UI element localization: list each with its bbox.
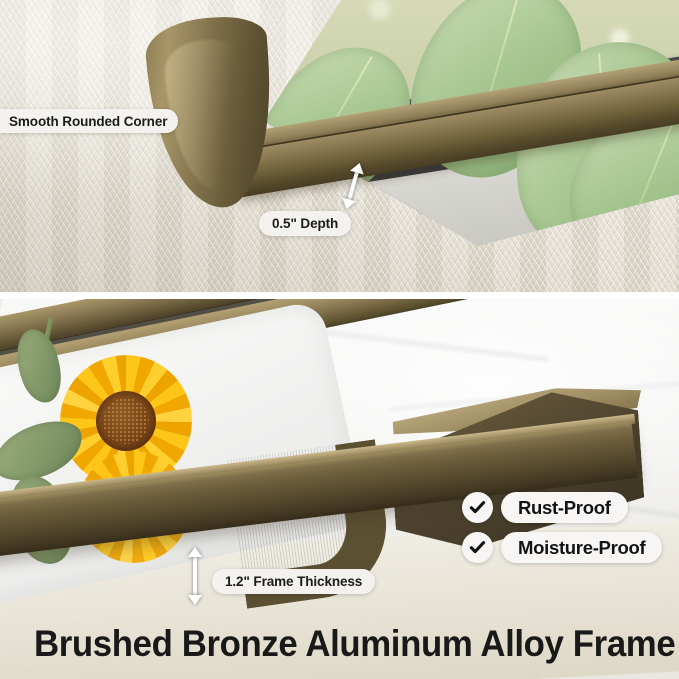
feature-text: Moisture-Proof: [518, 537, 645, 559]
feature-label: Moisture-Proof: [501, 532, 662, 563]
check-icon: [462, 492, 493, 523]
panel-divider: [0, 292, 679, 299]
feature-label: Rust-Proof: [501, 492, 628, 523]
thickness-dimension-arrow-icon: [193, 556, 197, 596]
feature-badge-rust-proof: Rust-Proof: [462, 492, 662, 523]
callout-label: 1.2" Frame Thickness: [225, 574, 362, 589]
check-icon: [462, 532, 493, 563]
callout-smooth-rounded-corner: Smooth Rounded Corner: [0, 109, 178, 133]
callout-label: Smooth Rounded Corner: [9, 114, 167, 129]
feature-text: Rust-Proof: [518, 497, 611, 519]
feature-badge-list: Rust-Proof Moisture-Proof: [462, 492, 662, 563]
page-title: Brushed Bronze Aluminum Alloy Frame: [34, 623, 617, 665]
callout-frame-thickness: 1.2" Frame Thickness: [212, 569, 375, 594]
top-detail-panel: Smooth Rounded Corner 0.5" Depth: [0, 0, 679, 292]
callout-label: 0.5" Depth: [272, 216, 338, 231]
product-feature-image: Smooth Rounded Corner 0.5" Depth: [0, 0, 679, 679]
callout-depth: 0.5" Depth: [259, 211, 351, 236]
feature-badge-moisture-proof: Moisture-Proof: [462, 532, 662, 563]
bottom-detail-panel: [0, 299, 679, 679]
